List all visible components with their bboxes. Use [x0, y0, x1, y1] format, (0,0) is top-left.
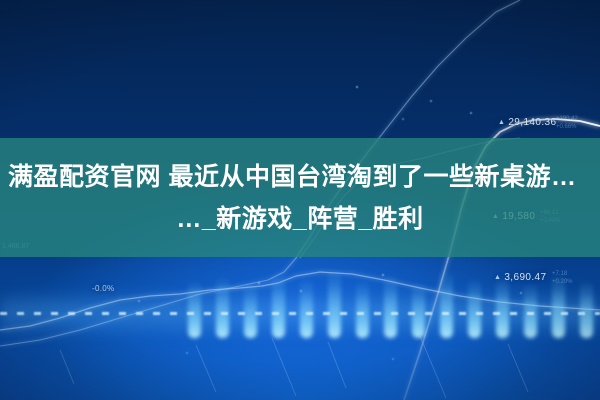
headline-line-2: …_新游戏_阵营_胜利 — [8, 198, 592, 240]
banner-image: ▲29,140.36 +190.42 +0.66% ▲19,580 +86.12… — [0, 0, 600, 400]
quote-change-top: +190.42 +0.66% — [556, 115, 578, 131]
quote-label-top: ▲29,140.36 — [498, 117, 556, 128]
headline-line-1: 满盈配资官网 最近从中国台湾淘到了一些新桌游… — [8, 156, 592, 198]
up-triangle-icon: ▲ — [494, 274, 501, 281]
headline-block: 满盈配资官网 最近从中国台湾淘到了一些新桌游… …_新游戏_阵营_胜利 — [0, 138, 600, 257]
quote-left-pct: -0.0% — [92, 284, 114, 293]
quote-label-low: ▲3,690.47 — [494, 272, 546, 283]
up-triangle-icon: ▲ — [498, 119, 505, 126]
quote-change-low: +7.18 +0.20% — [552, 270, 573, 286]
